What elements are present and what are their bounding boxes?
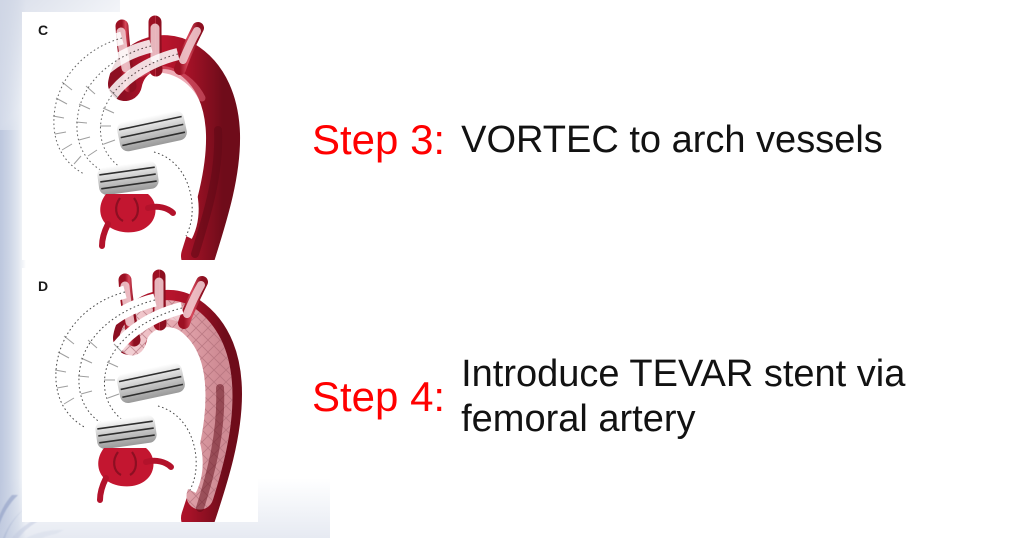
aortic-arch-illustration-d: [22, 268, 258, 522]
aortic-arch-illustration-c: [22, 12, 258, 260]
step-4-row: Step 4: Introduce TEVAR stent via femora…: [312, 352, 981, 442]
step-3-row: Step 3: VORTEC to arch vessels: [312, 118, 883, 163]
panel-label-d: D: [38, 278, 49, 294]
panel-label-c: C: [38, 22, 49, 38]
figure-panel-d: D: [22, 268, 258, 522]
step-3-kicker: Step 3:: [312, 118, 445, 162]
presentation-slide: C: [0, 0, 1027, 538]
step-4-body: Introduce TEVAR stent via femoral artery: [461, 352, 981, 442]
figure-panel-c: C: [22, 12, 258, 260]
step-4-kicker: Step 4:: [312, 375, 445, 419]
step-3-body: VORTEC to arch vessels: [461, 118, 883, 163]
